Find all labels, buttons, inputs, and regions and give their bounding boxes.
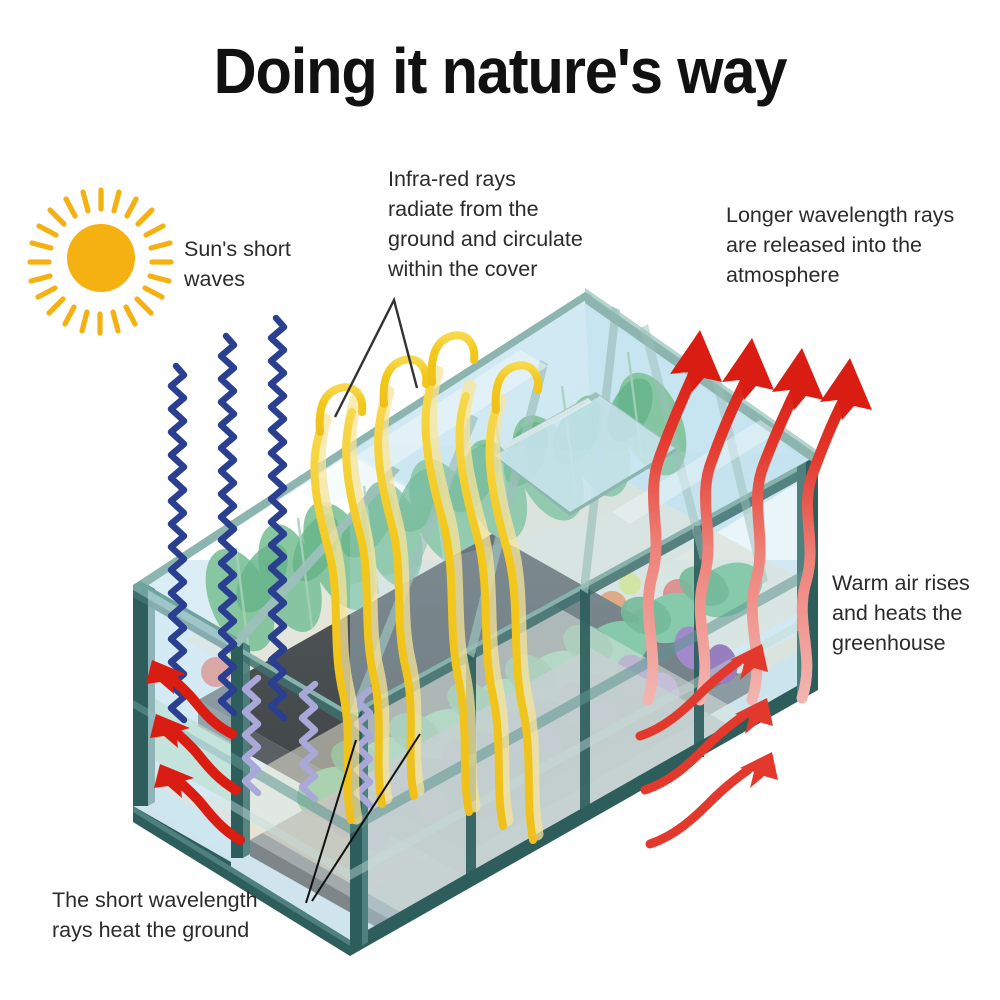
annotation-warm-air-rises: Warm air rises and heats the greenhouse xyxy=(832,568,1000,658)
sun-icon xyxy=(30,190,171,333)
page-title: Doing it nature's way xyxy=(35,38,965,105)
annotation-sun-short-waves: Sun's short waves xyxy=(184,234,364,294)
annotation-short-wavelength-ground: The short wavelength rays heat the groun… xyxy=(52,885,342,945)
annotation-longer-wavelength: Longer wavelength rays are released into… xyxy=(726,200,976,290)
annotation-infrared-rays: Infra-red rays radiate from the ground a… xyxy=(388,164,638,284)
greenhouse-illustration xyxy=(0,0,1000,1000)
frame-left-front-post xyxy=(133,585,148,806)
infographic-page: Doing it nature's way Sun's short waves … xyxy=(0,0,1000,1000)
